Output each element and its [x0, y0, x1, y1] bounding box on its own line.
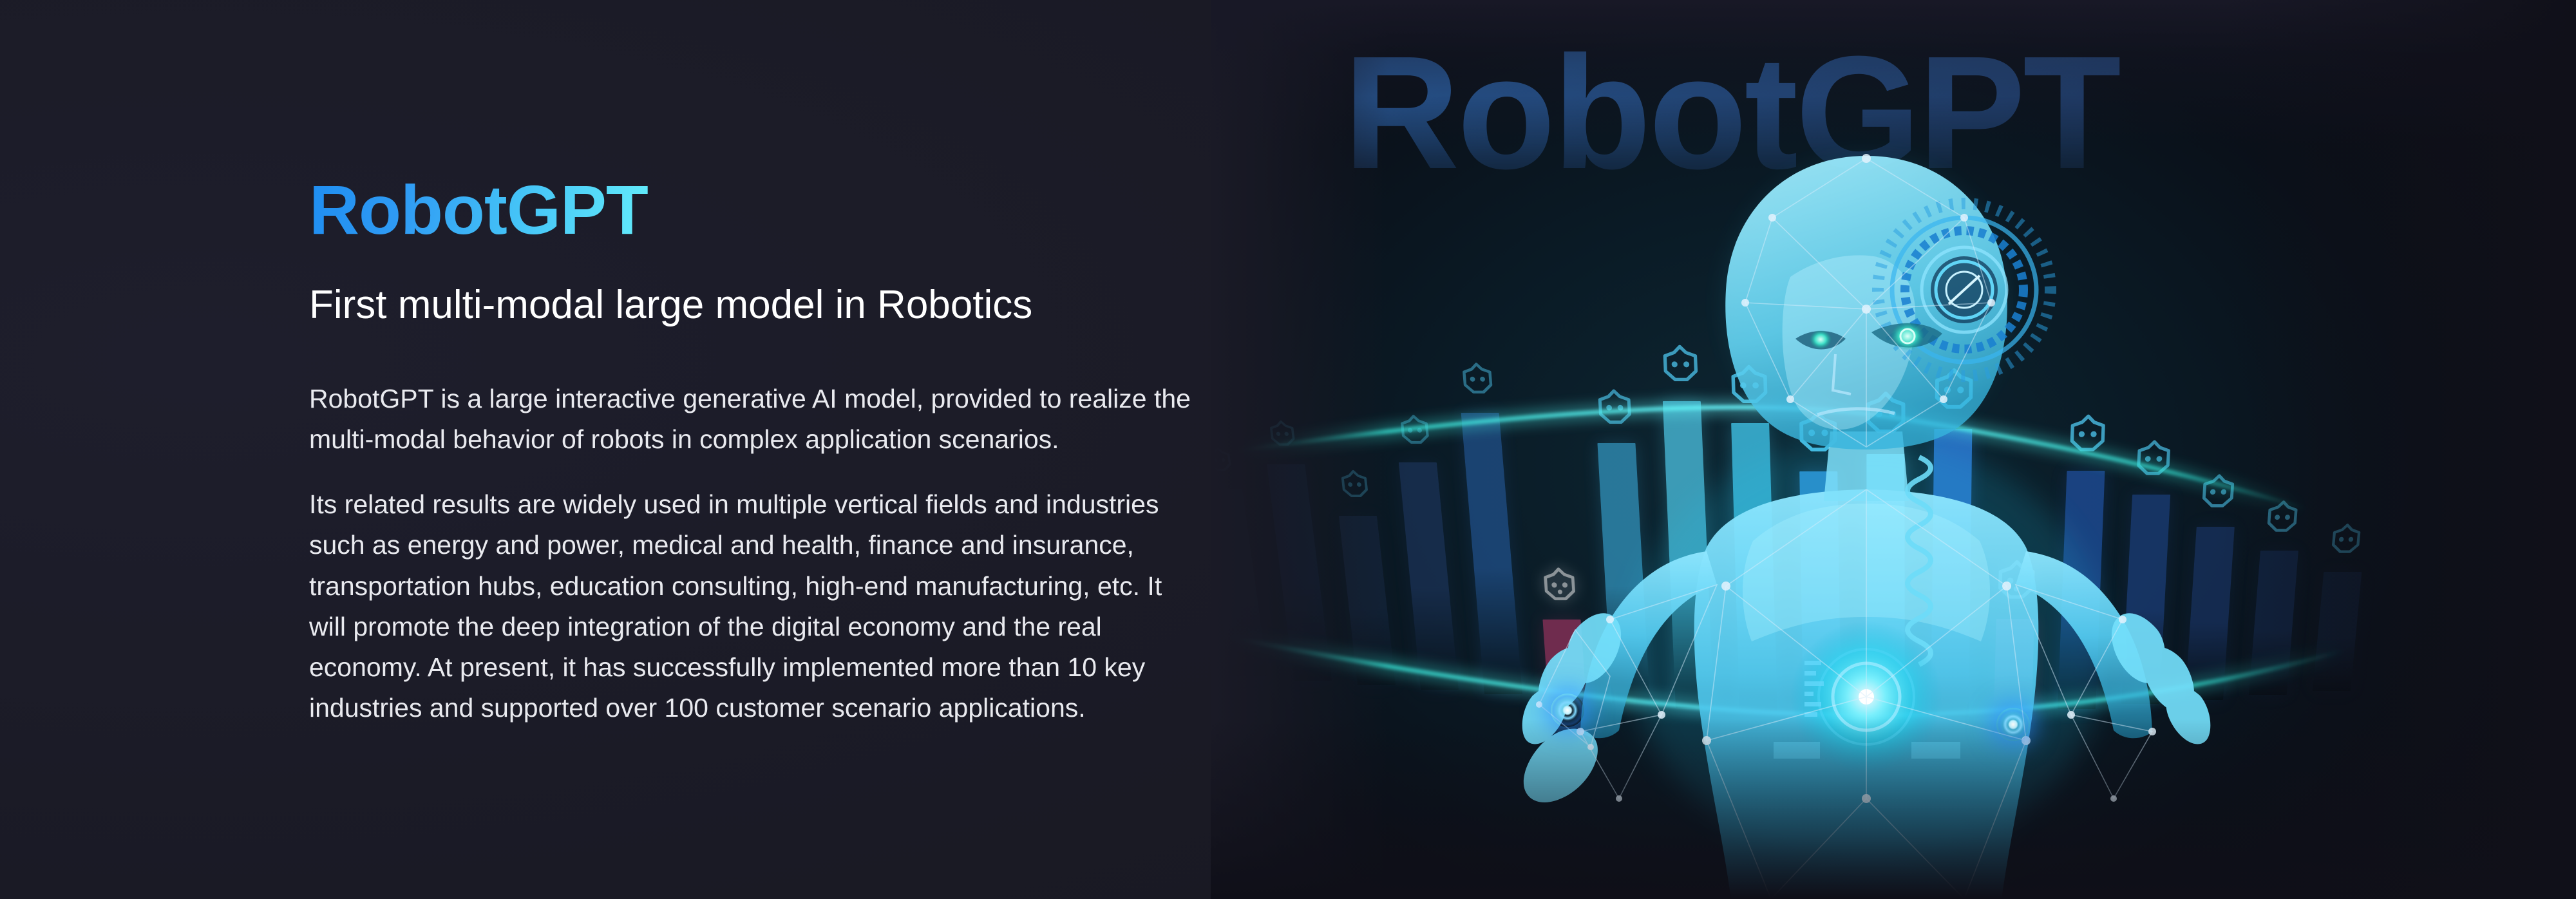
robot-face-hexagon-icon: [2262, 499, 2302, 535]
bar: [1267, 464, 1332, 681]
page-title: RobotGPT: [309, 175, 648, 245]
bar: [1338, 516, 1395, 685]
bar-chart-column: [2249, 441, 2307, 695]
hero-illustration: RobotGPT: [1211, 0, 2576, 899]
description-paragraph-1: RobotGPT is a large interactive generati…: [309, 379, 1204, 460]
bar-chart-column: [2313, 462, 2372, 691]
description-paragraph-2: Its related results are widely used in m…: [309, 484, 1204, 728]
description-block: RobotGPT is a large interactive generati…: [309, 379, 1204, 728]
robot-face-hexagon-icon: [1458, 361, 1497, 397]
robot-face-hexagon-icon: [1265, 420, 1298, 449]
glow-ring-node-icon: [1996, 708, 2030, 741]
bar: [2249, 551, 2298, 695]
robot-face-hexagon-icon: [1396, 413, 1433, 447]
robot-face-hexagon-icon: [2327, 522, 2365, 556]
page-subtitle: First multi-modal large model in Robotic…: [309, 283, 1032, 327]
text-panel: RobotGPT First multi-modal large model i…: [309, 0, 1224, 899]
bar: [2313, 572, 2362, 691]
bar-chart-column: [1327, 406, 1396, 685]
bar-chart-column: [1253, 355, 1332, 681]
robotgpt-hero-banner: RobotGPT First multi-modal large model i…: [0, 0, 2576, 899]
glow-ring-node-icon: [1551, 694, 1584, 727]
robot-face-hexagon-icon: [1337, 469, 1372, 500]
bar: [1399, 462, 1459, 690]
bar-chart-column: [1452, 303, 1523, 694]
wireframe-robot-figure: [1513, 97, 2222, 899]
bar-chart-column: [1388, 353, 1459, 690]
